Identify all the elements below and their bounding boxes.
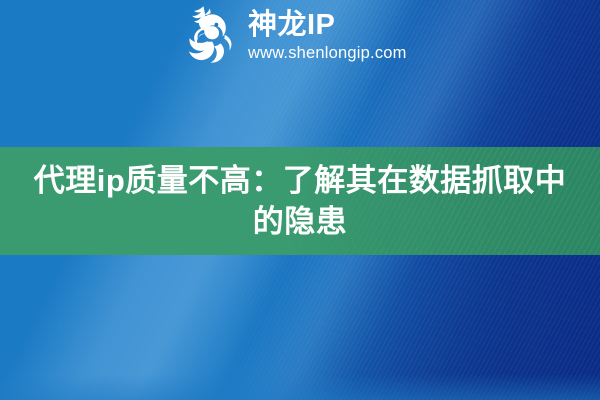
dragon-head-logo-icon xyxy=(183,3,239,69)
brand-website-url: www.shenlongip.com xyxy=(248,43,407,64)
title-band: 代理ip质量不高：了解其在数据抓取中的隐患 xyxy=(0,147,600,255)
background-bottom-glow xyxy=(0,374,600,400)
brand-name: 神龙IP xyxy=(248,10,407,40)
article-title: 代理ip质量不高：了解其在数据抓取中的隐患 xyxy=(20,160,580,242)
article-cover-banner: 神龙IP www.shenlongip.com 代理ip质量不高：了解其在数据抓… xyxy=(0,0,600,400)
brand-text-column: 神龙IP www.shenlongip.com xyxy=(248,8,407,64)
brand-lockup: 神龙IP www.shenlongip.com xyxy=(183,3,407,69)
